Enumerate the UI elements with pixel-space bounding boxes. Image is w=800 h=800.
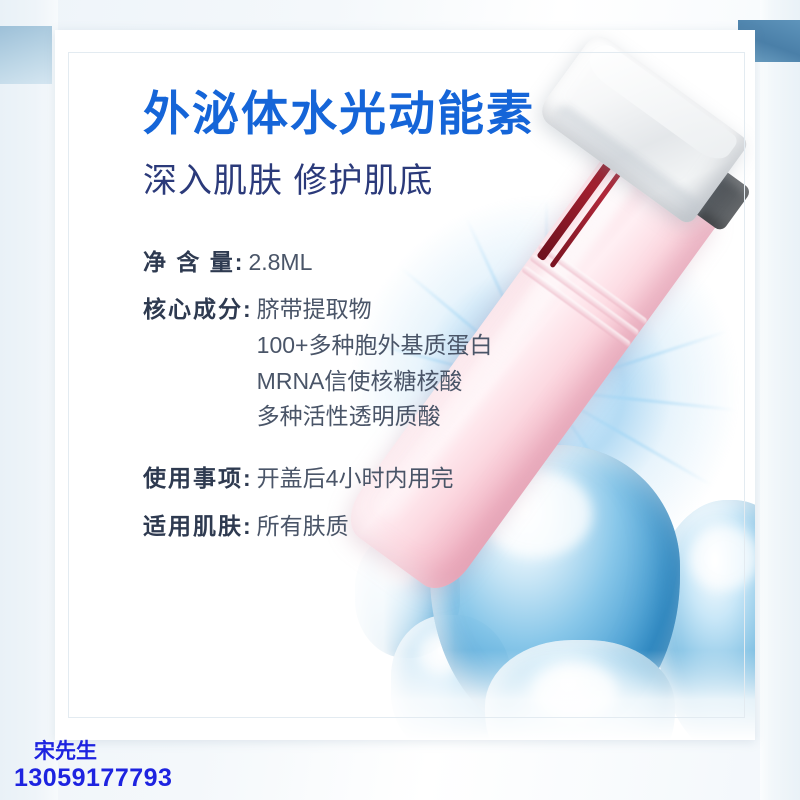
spec-value: 100+多种胞外基质蛋白 — [257, 328, 493, 364]
spec-values: 2.8ML — [248, 245, 312, 281]
background-left-band — [0, 0, 58, 800]
spec-value: 2.8ML — [248, 245, 312, 281]
spec-value: 脐带提取物 — [257, 292, 493, 328]
spec-row-skin-type: 适用肌肤 : 所有肤质 — [143, 509, 563, 545]
spec-row-usage-note: 使用事项 : 开盖后4小时内用完 — [143, 461, 563, 497]
product-title: 外泌体水光动能素 — [143, 88, 563, 140]
background-right-band — [760, 0, 800, 800]
contact-watermark: 宋先生 13059177793 — [14, 740, 172, 792]
spec-values: 脐带提取物 100+多种胞外基质蛋白 MRNA信使核糖核酸 多种活性透明质酸 — [257, 292, 493, 435]
spec-value: 开盖后4小时内用完 — [257, 461, 454, 497]
spec-values: 开盖后4小时内用完 — [257, 461, 454, 497]
spec-colon: : — [243, 509, 251, 545]
product-subtitle: 深入肌肤 修护肌底 — [143, 162, 563, 201]
advertisement-image: 外泌体水光动能素 深入肌肤 修护肌底 净 含 量 : 2.8ML 核心成分 : … — [0, 0, 800, 800]
watermark-phone: 13059177793 — [14, 764, 172, 792]
spec-value: MRNA信使核糖核酸 — [257, 364, 493, 400]
spec-colon: : — [243, 292, 251, 328]
specification-list: 净 含 量 : 2.8ML 核心成分 : 脐带提取物 100+多种胞外基质蛋白 … — [143, 245, 563, 544]
spec-colon: : — [243, 461, 251, 497]
spec-row-core-ingredients: 核心成分 : 脐带提取物 100+多种胞外基质蛋白 MRNA信使核糖核酸 多种活… — [143, 292, 563, 435]
product-text-column: 外泌体水光动能素 深入肌肤 修护肌底 净 含 量 : 2.8ML 核心成分 : … — [143, 88, 563, 556]
spec-colon: : — [235, 245, 243, 281]
spec-value: 多种活性透明质酸 — [257, 399, 493, 435]
spec-values: 所有肤质 — [257, 509, 349, 545]
spec-row-net-content: 净 含 量 : 2.8ML — [143, 245, 563, 281]
spec-label: 净 含 量 — [143, 245, 235, 281]
spec-label: 核心成分 — [143, 292, 243, 328]
watermark-name: 宋先生 — [14, 740, 172, 764]
spec-value: 所有肤质 — [257, 509, 349, 545]
decorative-square-top-left — [0, 26, 52, 84]
spec-label: 使用事项 — [143, 461, 243, 497]
spec-label: 适用肌肤 — [143, 509, 243, 545]
product-card: 外泌体水光动能素 深入肌肤 修护肌底 净 含 量 : 2.8ML 核心成分 : … — [55, 30, 755, 740]
